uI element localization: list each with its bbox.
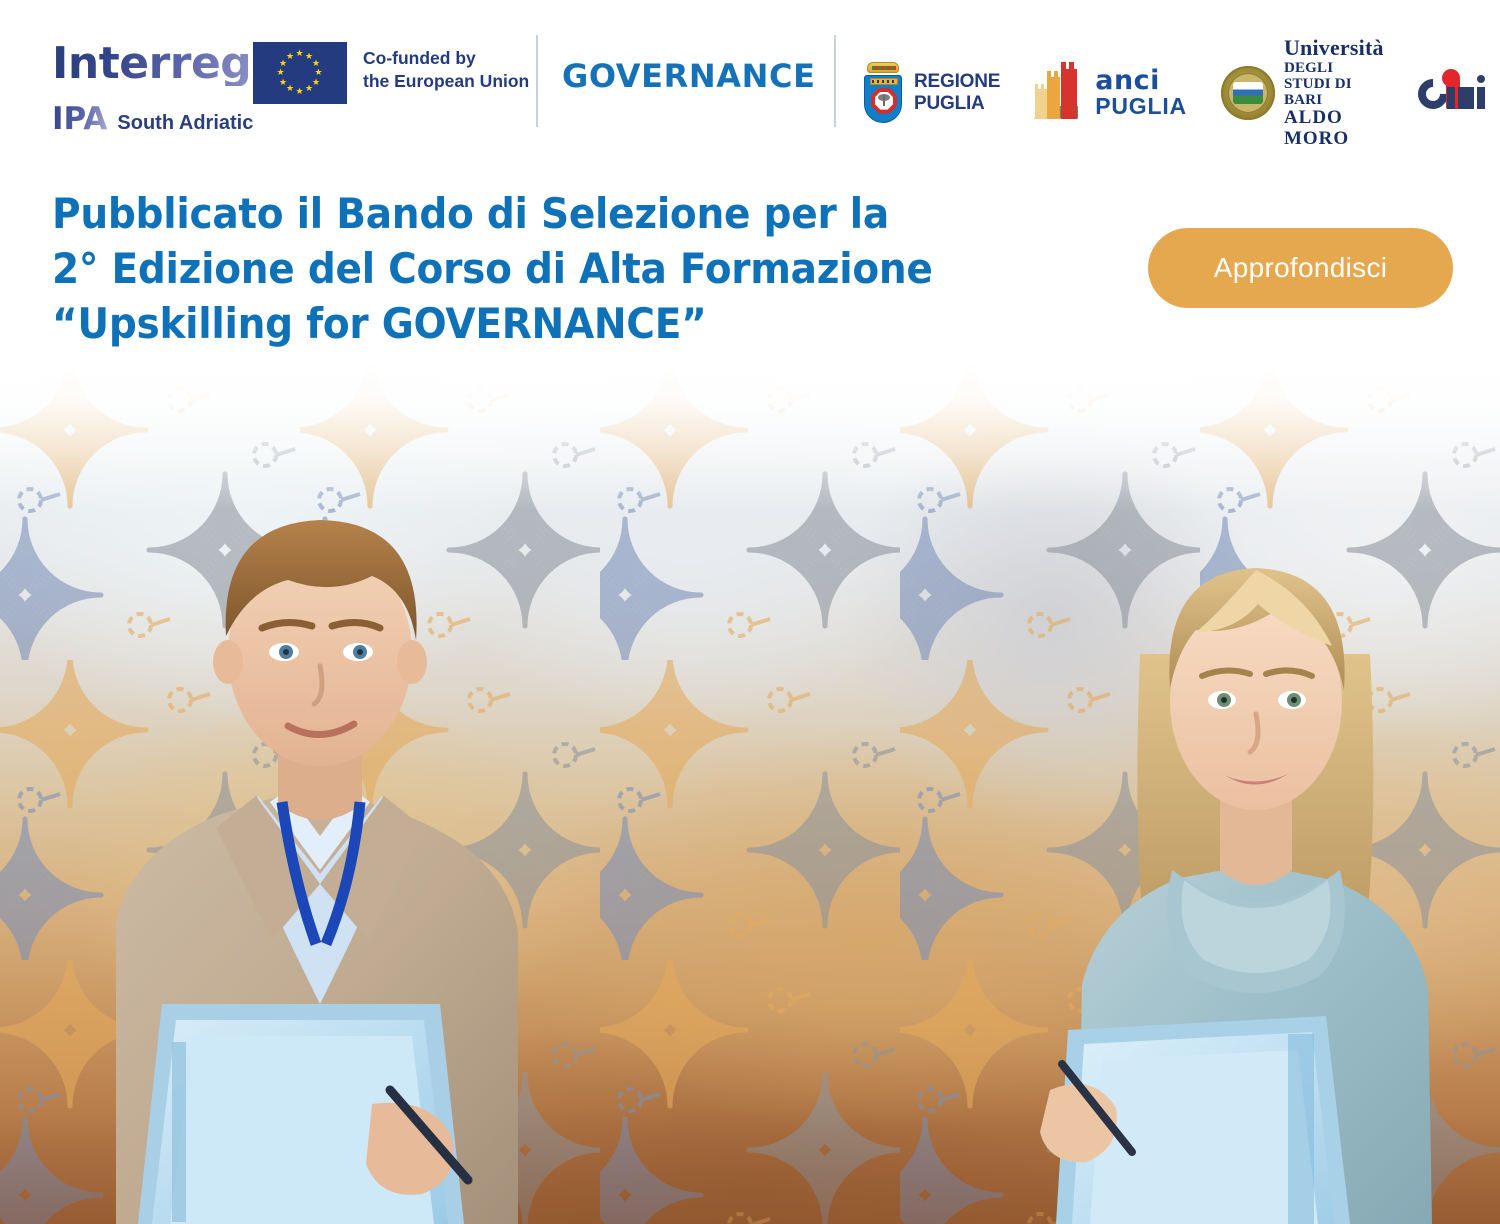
regione-puglia-coat-of-arms-icon [862,62,904,124]
photo-man-left [20,404,620,1224]
logo-bar: Interreg IPA South Adriatic ★★★★★★★★★★★★… [0,0,1500,170]
ipa-programme-name: South Adriatic [117,111,253,135]
eu-star-icon: ★ [296,87,305,96]
universita-bari-seal-icon [1221,66,1275,120]
page-title: Pubblicato il Bando di Selezione per la … [52,186,933,351]
eu-star-icon: ★ [305,84,314,93]
divider-left [536,35,538,127]
eu-star-icon: ★ [296,49,305,58]
regione-puglia-line2: PUGLIA [914,93,1000,114]
interreg-logo: Interreg IPA South Adriatic [52,42,253,135]
photo-woman-right [1020,464,1490,1224]
divider-right [834,35,836,127]
eu-cofunded-line1: Co-funded by [363,47,529,70]
universita-bari-text: Università DEGLI STUDI DI BARI ALDO MORO [1284,36,1384,149]
anci-puglia-text: anci PUGLIA [1095,67,1187,118]
eu-star-icon: ★ [279,78,288,87]
eu-star-icon: ★ [277,68,286,77]
anci-puglia-castle-icon [1034,67,1090,119]
ipa-wordmark: IPA [52,104,107,135]
cini-logo-icon [1418,71,1494,115]
eu-star-icon: ★ [286,52,295,61]
partner-logo-universita-bari: Università DEGLI STUDI DI BARI ALDO MORO [1221,36,1384,149]
eu-star-icon: ★ [315,68,324,77]
hero-banner [0,360,1500,1224]
partner-logo-anci-puglia: anci PUGLIA [1034,67,1187,119]
uniba-line1: Università [1284,36,1384,60]
ipa-row: IPA South Adriatic [52,104,253,135]
partner-logos: REGIONE PUGLIA anci PUGLIA Università DE… [862,36,1500,149]
governance-wordmark: GOVERNANCE [562,57,816,95]
uniba-line3: ALDO MORO [1284,108,1384,149]
eu-flag-icon: ★★★★★★★★★★★★ [253,42,347,104]
anci-line2: PUGLIA [1095,95,1187,118]
eu-cofunded-logo: ★★★★★★★★★★★★ Co-funded by the European U… [253,42,529,104]
regione-puglia-line1: REGIONE [914,71,1000,92]
eu-cofunded-text: Co-funded by the European Union [363,47,529,93]
interreg-wordmark: Interreg [52,42,253,86]
eu-cofunded-line2: the European Union [363,70,529,93]
uniba-line2: DEGLI STUDI DI BARI [1284,60,1384,109]
regione-puglia-text: REGIONE PUGLIA [914,71,1000,114]
partner-logo-cini: consorzio interuniversitario nazionale p… [1418,69,1500,117]
anci-line1: anci [1095,67,1187,94]
partner-logo-regione-puglia: REGIONE PUGLIA [862,62,1000,124]
approfondisci-button[interactable]: Approfondisci [1148,228,1453,308]
